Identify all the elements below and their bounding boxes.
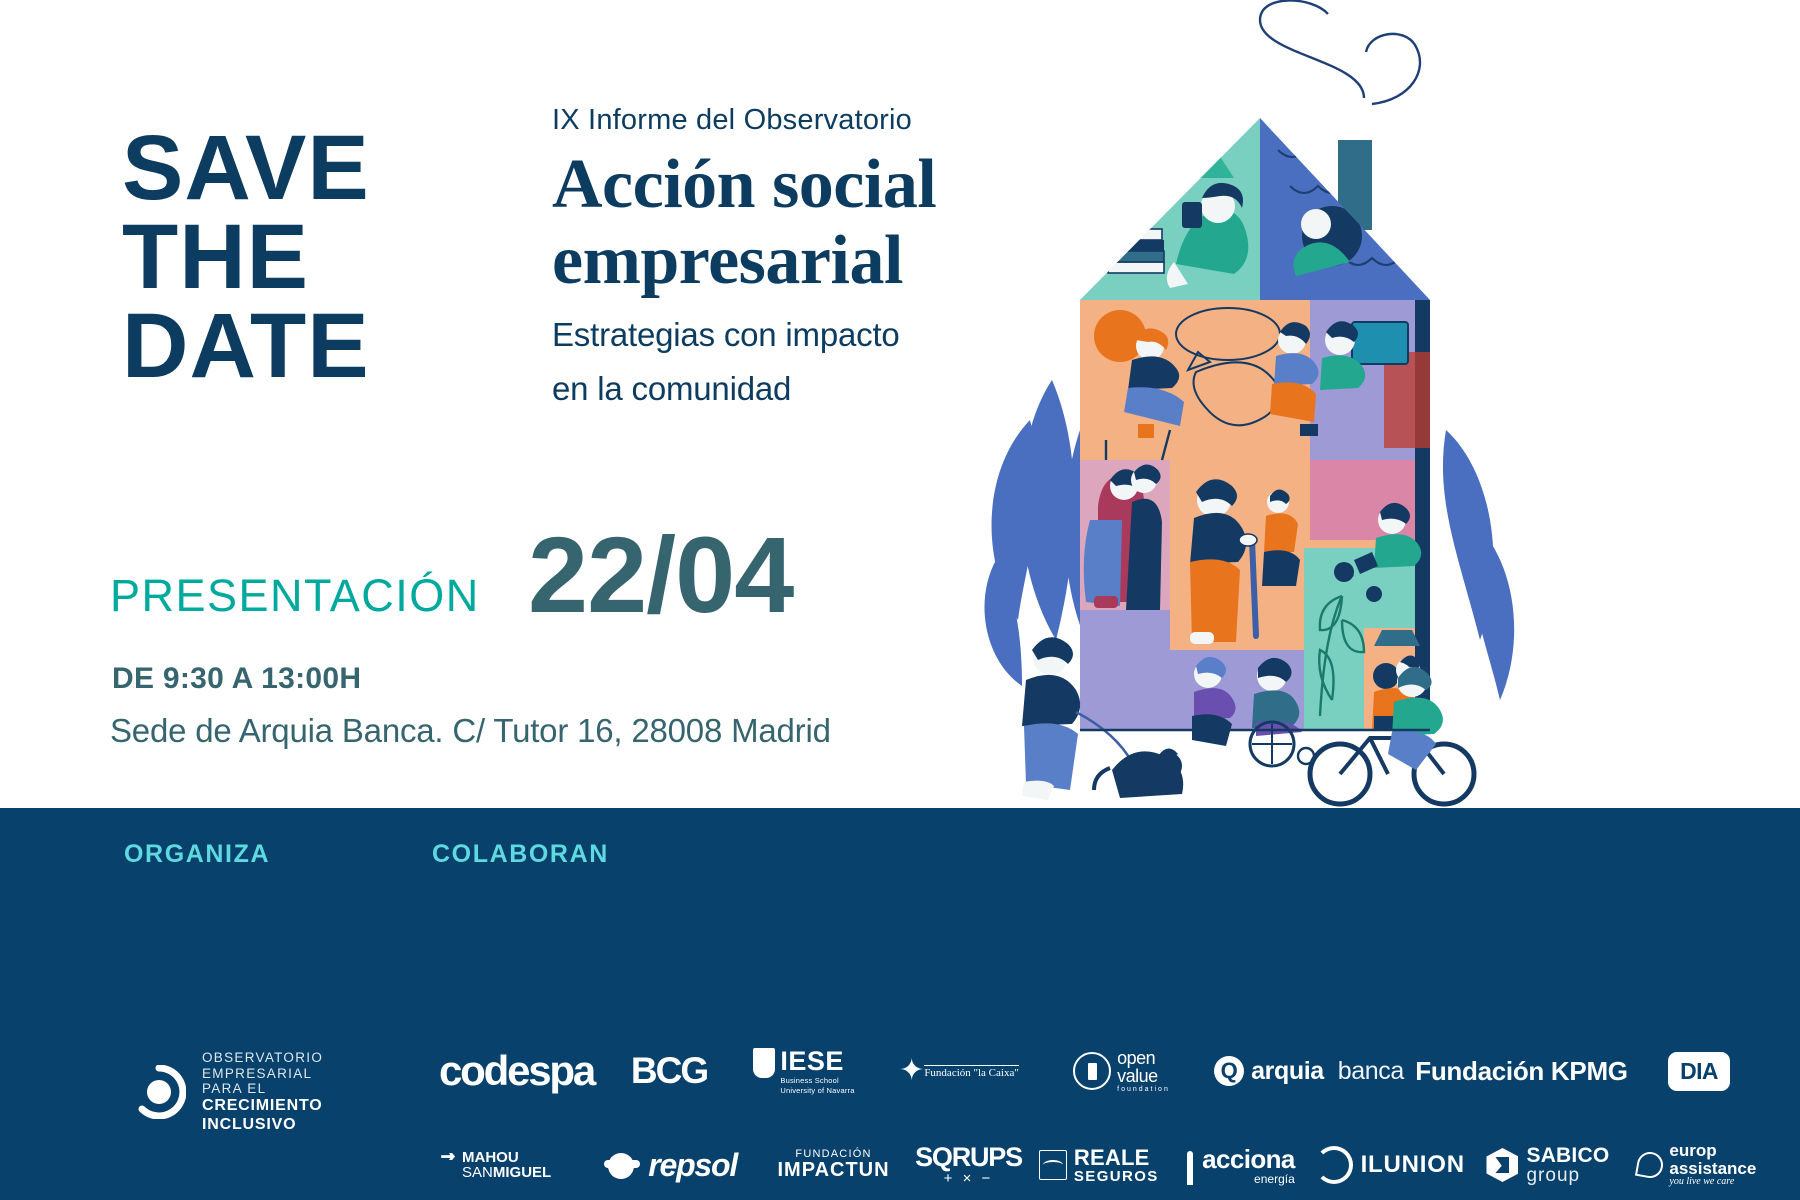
logo-europ-assistance: europ assistance you live we care	[1625, 1135, 1769, 1195]
acciona-tree-icon	[1182, 1151, 1198, 1185]
logo-fundacion-kpmg: Fundación KPMG	[1414, 1040, 1629, 1102]
logo-arquia-banca: Q arquia banca	[1204, 1040, 1414, 1102]
plant-right-decoration	[1443, 430, 1514, 700]
sabico-hex-icon	[1486, 1148, 1518, 1182]
event-date: 22/04	[528, 512, 793, 637]
observatorio-logo: OBSERVATORIO EMPRESARIAL PARA EL CRECIMI…	[132, 1050, 323, 1134]
save-the-date-line-3: DATE	[122, 302, 522, 391]
collaborators-row-2: ⃗⃗⃗ MAHOU SANMIGUEL repsol FUNDACIÓN IMP…	[424, 1135, 1769, 1195]
books-stack	[1106, 229, 1164, 273]
logo-sabico-group: SABICO group	[1471, 1135, 1625, 1195]
observatorio-ring-icon	[132, 1065, 186, 1119]
logo-ilunion: ILUNION	[1308, 1135, 1471, 1195]
logo-la-caixa: ✦ Fundación "la Caixa"	[879, 1040, 1039, 1102]
logo-mahou-san-miguel: ⃗⃗⃗ MAHOU SANMIGUEL	[424, 1135, 582, 1195]
event-poster: SAVE THE DATE IX Informe del Observatori…	[0, 0, 1800, 1200]
logo-reale-seguros: REALE SEGUROS	[1029, 1135, 1169, 1195]
community-house-illustration	[960, 0, 1580, 810]
observatorio-line-4: CRECIMIENTO	[202, 1097, 323, 1116]
logo-iese: IESE Business School University of Navar…	[729, 1040, 879, 1102]
europ-drop-icon	[1635, 1150, 1665, 1180]
logo-dia: DIA	[1629, 1040, 1769, 1102]
save-the-date-line-1: SAVE	[122, 124, 522, 213]
logo-repsol: repsol	[582, 1135, 759, 1195]
observatorio-line-3: PARA EL	[202, 1081, 323, 1097]
open-value-mark-icon	[1073, 1052, 1111, 1090]
reale-mark-icon	[1039, 1150, 1067, 1180]
presentacion-label: PRESENTACIÓN	[110, 570, 480, 622]
logo-fundacion-impactun: FUNDACIÓN IMPACTUN	[759, 1135, 908, 1195]
smoke-icon	[1260, 0, 1420, 104]
logo-bcg: BCG	[609, 1040, 729, 1102]
logo-acciona-energia: acciona energía	[1169, 1135, 1309, 1195]
observatorio-line-5: INCLUSIVO	[202, 1116, 323, 1135]
colaboran-heading: COLABORAN	[432, 840, 609, 869]
arquia-q-icon: Q	[1214, 1056, 1244, 1086]
save-the-date-heading: SAVE THE DATE	[122, 124, 522, 392]
observatorio-logo-text: OBSERVATORIO EMPRESARIAL PARA EL CRECIMI…	[202, 1050, 323, 1134]
caixa-star-icon: ✦	[899, 1056, 924, 1086]
roof	[1080, 118, 1430, 300]
observatorio-line-2: EMPRESARIAL	[202, 1066, 323, 1082]
iese-shield-icon	[753, 1048, 775, 1078]
save-the-date-line-2: THE	[122, 213, 522, 302]
observatorio-line-1: OBSERVATORIO	[202, 1050, 323, 1066]
logo-codespa: codespa	[424, 1040, 609, 1102]
logo-open-value: open value foundation	[1039, 1040, 1204, 1102]
organiza-heading: ORGANIZA	[124, 840, 270, 869]
repsol-mark-icon	[604, 1150, 640, 1180]
collaborators-row-1: codespa BCG IESE Business School Univers…	[424, 1040, 1769, 1102]
event-time: DE 9:30 A 13:00H	[112, 662, 361, 696]
logo-sqrups: SQRUPS + × −	[908, 1135, 1029, 1195]
event-place: Sede de Arquia Banca. C/ Tutor 16, 28008…	[110, 712, 831, 750]
ilunion-ring-icon	[1315, 1146, 1353, 1184]
